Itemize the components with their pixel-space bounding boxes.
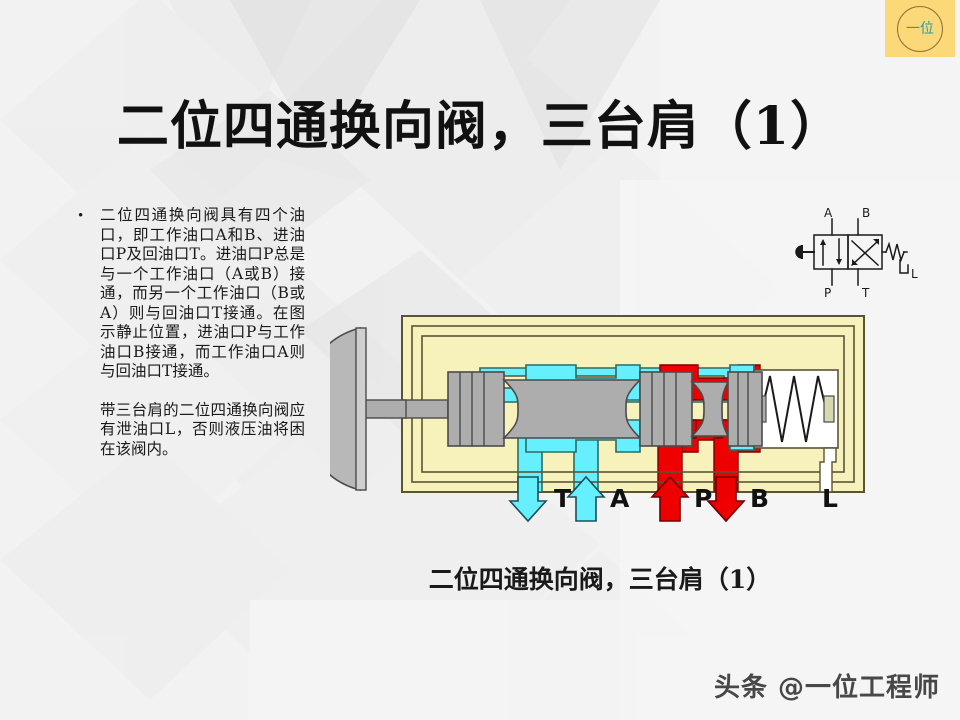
arrow-down-icon (510, 477, 546, 521)
port-label-a-text: A (610, 484, 630, 513)
logo-ring: 一位 (897, 6, 943, 52)
paragraph-1: 二位四通换向阀具有四个油口，即工作油口A和B、进油口P及回油口T。进油口P总是与… (100, 206, 305, 382)
handle-plate (356, 328, 366, 490)
iso-label-b: B (862, 206, 870, 220)
port-label-b-text: B (750, 484, 769, 513)
port-label-p: P (652, 477, 712, 521)
spool-waist-1 (504, 380, 640, 438)
iso-label-a: A (824, 206, 833, 220)
page-title: 二位四通换向阀，三台肩（1） (0, 84, 960, 159)
operating-handle[interactable] (330, 328, 406, 490)
spool-land-1 (448, 372, 504, 446)
arrow-down-icon (708, 477, 744, 521)
paragraph-2: 带三台肩的二位四通换向阀应有泄油口L，否则液压油将困在该阀内。 (100, 401, 305, 460)
port-label-l-text: L (822, 484, 838, 513)
port-label-l: L (822, 484, 838, 513)
port-label-b: B (708, 477, 769, 521)
spool-land-2 (640, 372, 692, 446)
iso-valve-symbol: A B P T L (780, 205, 920, 300)
body-text-block: • 二位四通换向阀具有四个油口，即工作油口A和B、进油口P及回油口T。进油口P总… (70, 206, 305, 459)
arrow-up-icon (652, 477, 688, 521)
iso-label-l: L (911, 267, 918, 281)
port-label-a: A (568, 477, 630, 521)
arrow-up-icon (568, 477, 604, 521)
paragraph-group: 二位四通换向阀具有四个油口，即工作油口A和B、进油口P及回油口T。进油口P总是与… (100, 206, 305, 459)
port-label-row: T A P B L (330, 475, 870, 525)
spool-land-3 (728, 372, 762, 446)
handle-rod (360, 400, 406, 418)
bullet-marker: • (70, 206, 100, 226)
spring-seat-right (824, 396, 834, 422)
figure-caption: 二位四通换向阀，三台肩（1） (360, 560, 840, 596)
iso-label-t: T (861, 286, 870, 300)
port-label-p-text: P (694, 484, 712, 513)
iso-label-p: P (824, 286, 831, 300)
footer-watermark: 头条 @一位工程师 (600, 668, 940, 708)
port-label-t: T (510, 477, 571, 521)
paragraph-spacer (100, 382, 305, 401)
logo-label: 一位 (906, 22, 934, 36)
bullet-row: • 二位四通换向阀具有四个油口，即工作油口A和B、进油口P及回油口T。进油口P总… (70, 206, 305, 459)
port-label-t-text: T (554, 484, 571, 513)
logo-badge[interactable]: 一位 (885, 0, 955, 57)
